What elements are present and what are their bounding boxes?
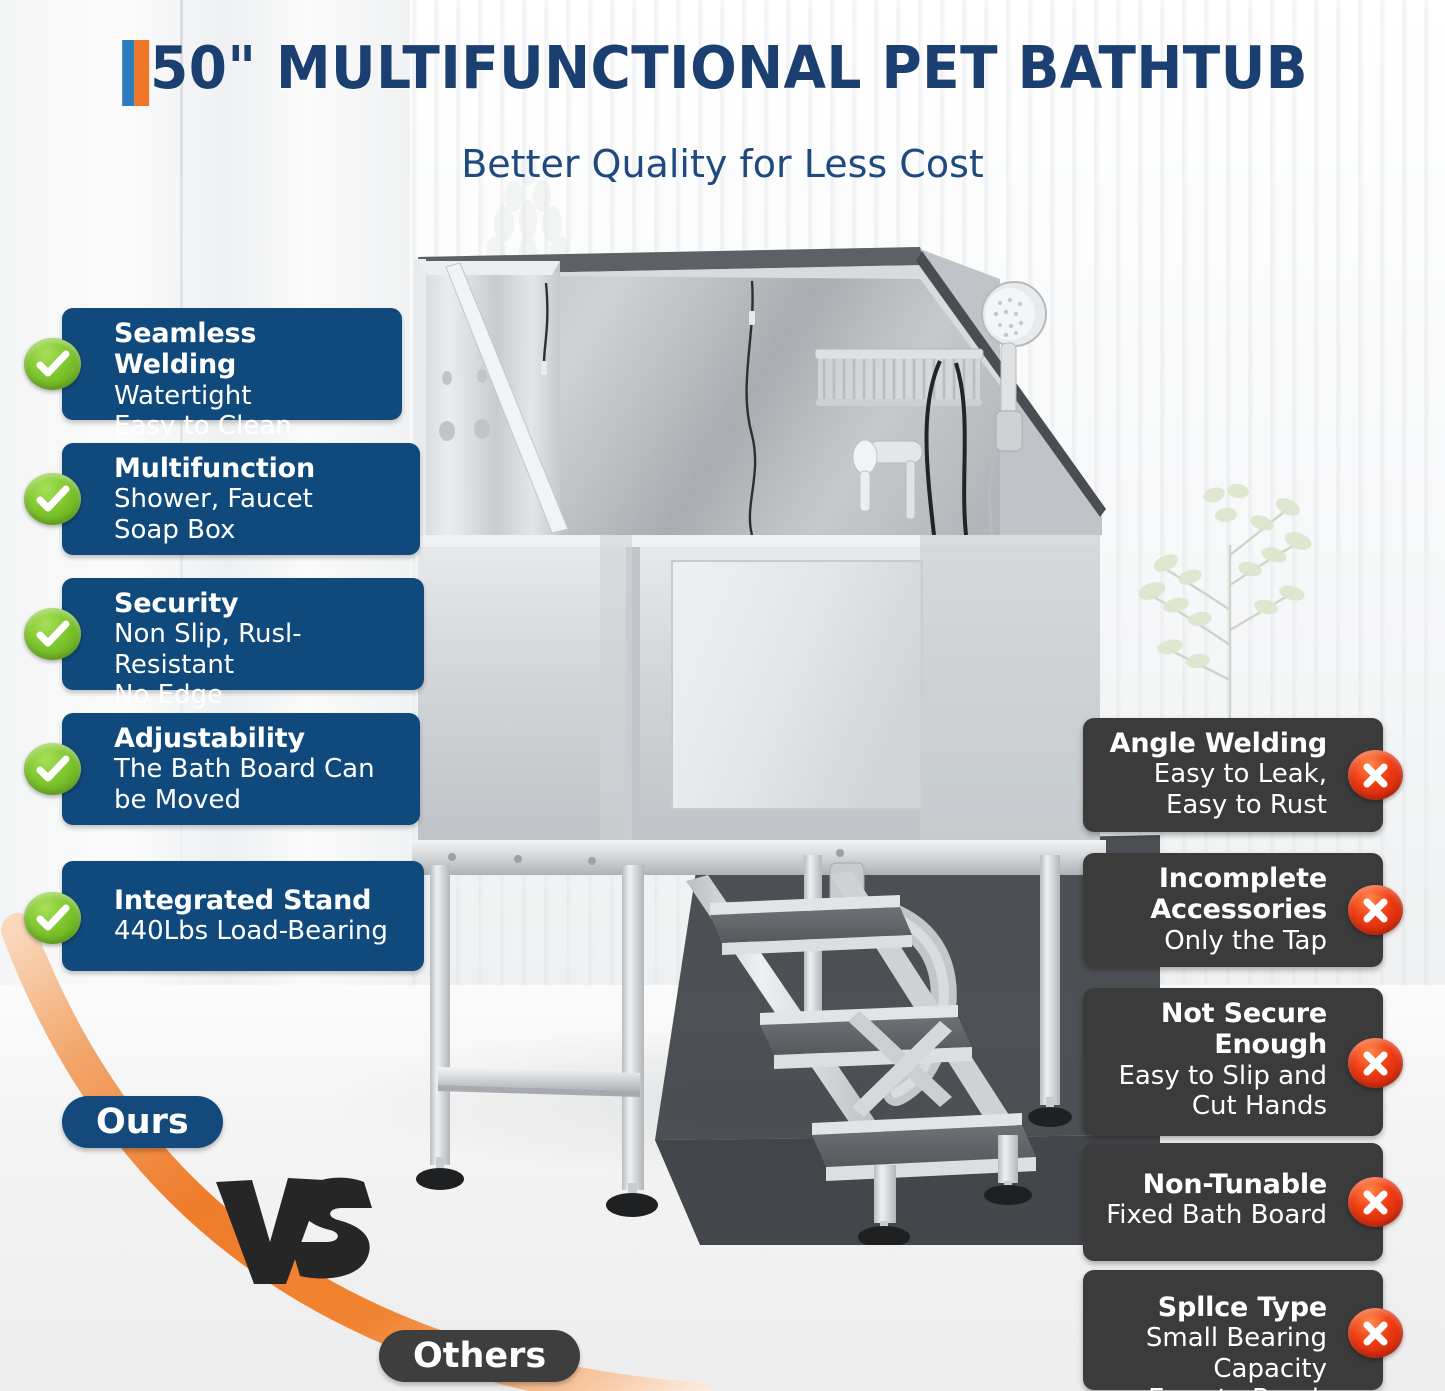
con-card-title-2: Accessories bbox=[1105, 894, 1327, 925]
cross-circle-icon bbox=[1348, 885, 1403, 935]
pro-card-line: 440Lbs Load-Bearing bbox=[114, 916, 408, 946]
pro-card-title: Seamless Welding bbox=[114, 318, 386, 381]
pro-card-1[interactable]: Multifunction Shower, Faucet Soap Box bbox=[62, 443, 420, 555]
check-circle-icon bbox=[24, 338, 81, 390]
page-title: 50" MULTIFUNCTIONAL PET BATHTUB bbox=[137, 38, 1308, 97]
plant-icon bbox=[1130, 395, 1430, 725]
con-card-title: Not Secure bbox=[1105, 998, 1327, 1029]
others-badge: Others bbox=[379, 1330, 580, 1382]
pro-card-title: Security bbox=[114, 588, 408, 619]
con-card-line: Easy to Slip and bbox=[1105, 1061, 1327, 1091]
pro-card-line: No Edge bbox=[114, 680, 408, 710]
check-circle-icon bbox=[24, 743, 81, 795]
con-card-line: Small Bearing Capacity bbox=[1105, 1323, 1327, 1384]
pro-card-4[interactable]: Integrated Stand 440Lbs Load-Bearing bbox=[62, 861, 424, 971]
con-card-3[interactable]: Non-Tunable Fixed Bath Board bbox=[1083, 1143, 1383, 1261]
pro-card-line: Soap Box bbox=[114, 515, 404, 545]
cross-circle-icon bbox=[1348, 1038, 1403, 1088]
con-card-line: Easy to Leak, bbox=[1105, 759, 1327, 789]
infographic-canvas: 50" MULTIFUNCTIONAL PET BATHTUB Better Q… bbox=[0, 0, 1445, 1391]
pro-card-title: Integrated Stand bbox=[114, 885, 408, 916]
con-card-title-2: Enough bbox=[1105, 1029, 1327, 1060]
title-block: 50" MULTIFUNCTIONAL PET BATHTUB bbox=[0, 38, 1445, 97]
con-card-line: Fixed Bath Board bbox=[1105, 1200, 1327, 1230]
con-card-title: Spllce Type bbox=[1105, 1292, 1327, 1323]
bath-board bbox=[672, 561, 922, 809]
pro-card-line: Watertight bbox=[114, 381, 386, 411]
pro-card-0[interactable]: Seamless Welding Watertight Easy to Clea… bbox=[62, 308, 402, 420]
pro-card-3[interactable]: Adjustability The Bath Board Can be Move… bbox=[62, 713, 420, 825]
con-card-1[interactable]: Incomplete Accessories Only the Tap bbox=[1083, 853, 1383, 967]
pro-card-line: Shower, Faucet bbox=[114, 484, 404, 514]
con-card-2[interactable]: Not Secure Enough Easy to Slip and Cut H… bbox=[1083, 988, 1383, 1136]
check-circle-icon bbox=[24, 608, 81, 660]
product-image bbox=[400, 235, 1160, 1245]
con-card-line: Easy to Break bbox=[1105, 1384, 1327, 1391]
pro-card-line: The Bath Board Can bbox=[114, 754, 404, 784]
cross-circle-icon bbox=[1348, 1177, 1403, 1227]
versus-logo bbox=[214, 1176, 374, 1286]
page-subtitle: Better Quality for Less Cost bbox=[0, 142, 1445, 186]
pro-card-line: Non Slip, Rusl-Resistant bbox=[114, 619, 408, 680]
con-card-4[interactable]: Spllce Type Small Bearing Capacity Easy … bbox=[1083, 1270, 1383, 1390]
pro-card-title: Multifunction bbox=[114, 453, 404, 484]
con-card-line: Cut Hands bbox=[1105, 1091, 1327, 1121]
con-card-title: Non-Tunable bbox=[1105, 1169, 1327, 1200]
pro-card-line: be Moved bbox=[114, 785, 404, 815]
con-card-title: Angle Welding bbox=[1105, 728, 1327, 759]
check-circle-icon bbox=[24, 892, 81, 944]
pro-card-2[interactable]: Security Non Slip, Rusl-Resistant No Edg… bbox=[62, 578, 424, 690]
pro-card-title: Adjustability bbox=[114, 723, 404, 754]
title-marker-blue bbox=[122, 40, 134, 106]
ours-badge: Ours bbox=[62, 1096, 223, 1148]
pro-card-line: Easy to Clean bbox=[114, 411, 386, 441]
title-marker-orange bbox=[134, 40, 149, 106]
con-card-0[interactable]: Angle Welding Easy to Leak, Easy to Rust bbox=[1083, 718, 1383, 832]
con-card-line: Only the Tap bbox=[1105, 926, 1327, 956]
check-circle-icon bbox=[24, 473, 81, 525]
cross-circle-icon bbox=[1348, 750, 1403, 800]
title-text: 50" MULTIFUNCTIONAL PET BATHTUB bbox=[150, 33, 1308, 102]
con-card-title: Incomplete bbox=[1105, 863, 1327, 894]
con-card-line: Easy to Rust bbox=[1105, 790, 1327, 820]
cross-circle-icon bbox=[1348, 1308, 1403, 1358]
